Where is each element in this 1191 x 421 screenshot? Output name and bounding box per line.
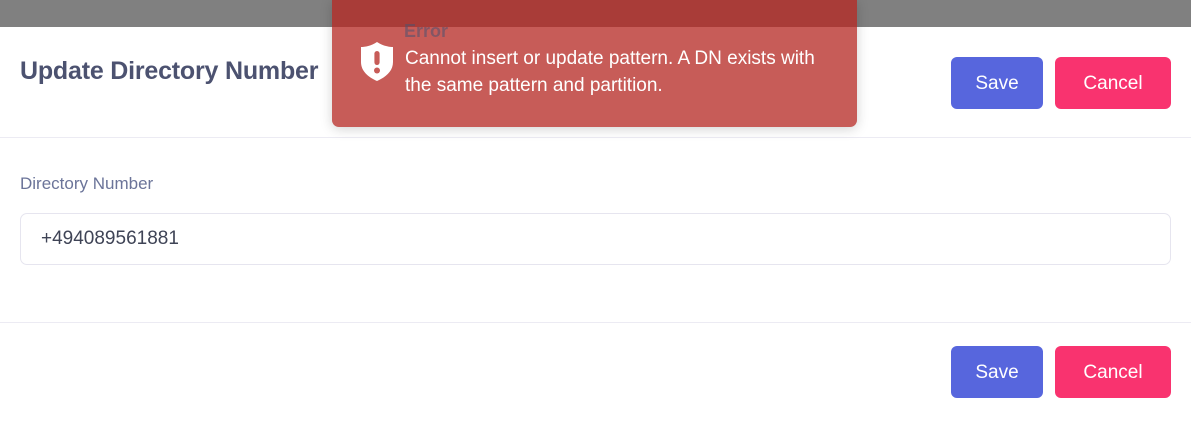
- page-title: Update Directory Number: [20, 57, 318, 86]
- header-actions: Save Cancel: [951, 57, 1171, 109]
- footer-save-button[interactable]: Save: [951, 346, 1043, 398]
- header-cancel-button[interactable]: Cancel: [1055, 57, 1171, 109]
- toast-message: Cannot insert or update pattern. A DN ex…: [405, 45, 837, 99]
- footer-actions: Save Cancel: [951, 346, 1171, 398]
- header-save-button[interactable]: Save: [951, 57, 1043, 109]
- error-toast[interactable]: Error Cannot insert or update pattern. A…: [332, 0, 857, 127]
- directory-number-input[interactable]: [20, 213, 1171, 265]
- form-area: Directory Number: [0, 138, 1191, 322]
- directory-number-label: Directory Number: [20, 174, 153, 194]
- footer-cancel-button[interactable]: Cancel: [1055, 346, 1171, 398]
- page-footer: Save Cancel: [0, 323, 1191, 421]
- toast-heading: Error: [404, 21, 448, 42]
- shield-exclamation-icon: [354, 38, 400, 84]
